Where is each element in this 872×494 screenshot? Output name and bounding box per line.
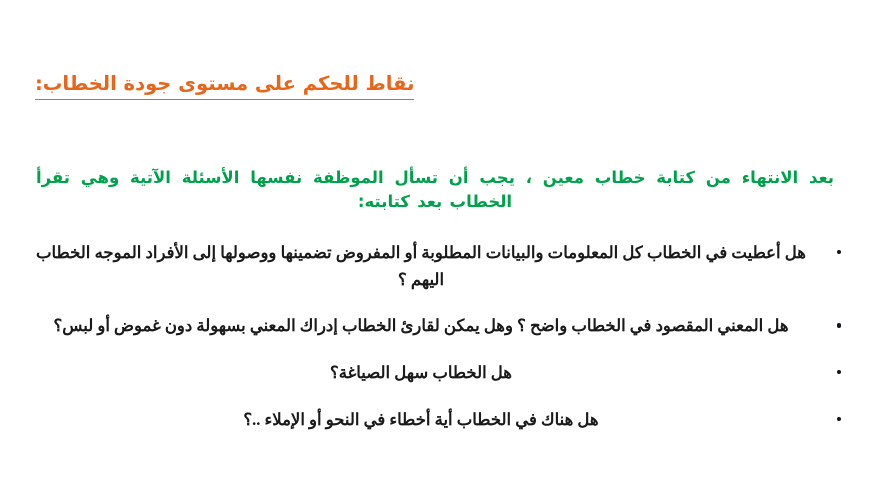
- list-item-label: هل الخطاب سهل الصياغة؟: [0, 360, 806, 387]
- bullet-point-icon: [806, 313, 872, 338]
- intro-paragraph-text: بعد الانتهاء من كتابة خطاب معين ، يجب أن…: [36, 168, 834, 211]
- page-title-text: نقاط للحكم على مستوى جودة الخطاب:: [35, 72, 414, 100]
- list-item-label: هل أعطيت في الخطاب كل المعلومات والبيانا…: [0, 240, 806, 293]
- list-item: هل أعطيت في الخطاب كل المعلومات والبيانا…: [0, 240, 872, 293]
- bullet-point-icon: [806, 407, 872, 432]
- list-item: هل الخطاب سهل الصياغة؟: [0, 360, 872, 387]
- list-item: هل هناك في الخطاب أية أخطاء في النحو أو …: [0, 407, 872, 434]
- list-item-label: هل هناك في الخطاب أية أخطاء في النحو أو …: [0, 407, 806, 434]
- bullet-list: هل أعطيت في الخطاب كل المعلومات والبيانا…: [0, 240, 872, 454]
- bullet-point-icon: [806, 240, 872, 265]
- list-item-label: هل المعني المقصود في الخطاب واضح ؟ وهل ي…: [0, 313, 806, 340]
- intro-paragraph: بعد الانتهاء من كتابة خطاب معين ، يجب أن…: [36, 166, 834, 214]
- slide-canvas: نقاط للحكم على مستوى جودة الخطاب: بعد ال…: [0, 0, 872, 494]
- list-item: هل المعني المقصود في الخطاب واضح ؟ وهل ي…: [0, 313, 872, 340]
- page-title: نقاط للحكم على مستوى جودة الخطاب:: [35, 72, 835, 100]
- bullet-point-icon: [806, 360, 872, 385]
